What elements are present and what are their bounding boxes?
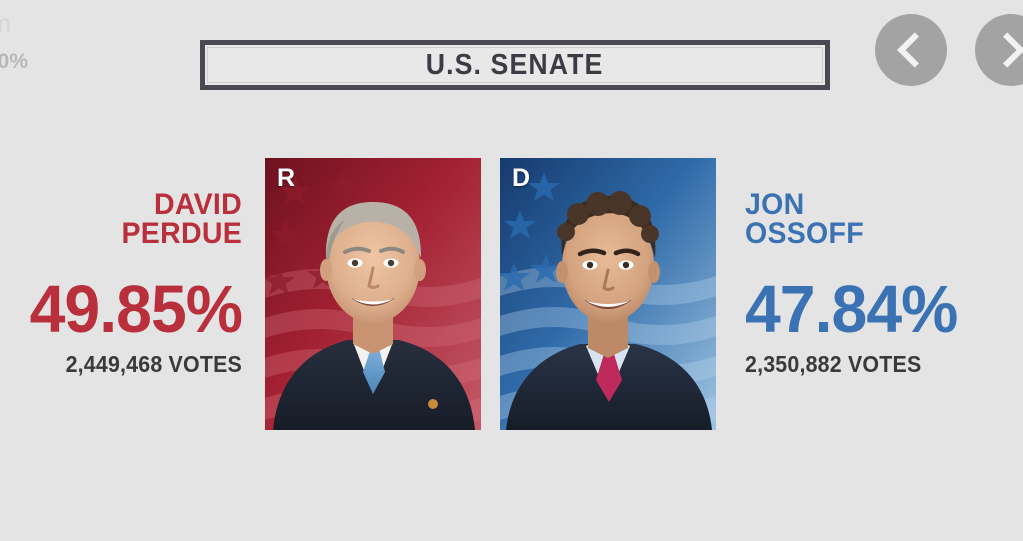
candidate-last-name-ossoff: OSSOFF <box>745 219 992 248</box>
previous-race-button[interactable] <box>875 14 947 86</box>
candidate-result-perdue: DAVID PERDUE 49.85% 2,449,468 VOTES <box>20 190 242 378</box>
chevron-left-icon <box>897 32 932 67</box>
candidate-first-name-ossoff: JON <box>745 190 992 219</box>
next-race-button[interactable] <box>975 14 1023 86</box>
party-badge-perdue: R <box>277 166 295 191</box>
race-title: U.S. SENATE <box>426 49 604 82</box>
overlay-ghost-percent: 00% <box>0 50 28 74</box>
candidate-photo-ossoff: D <box>500 158 716 430</box>
candidate-name-ossoff: JON OSSOFF <box>745 190 992 248</box>
ossoff-portrait-image <box>500 158 716 430</box>
race-title-banner: U.S. SENATE <box>200 40 830 90</box>
overlay-ghost-word: om <box>0 8 12 39</box>
candidate-last-name-perdue: PERDUE <box>31 219 242 248</box>
party-badge-ossoff: D <box>512 166 530 191</box>
candidate-votes-ossoff: 2,350,882 VOTES <box>745 351 987 378</box>
election-results-graphic: om 00% U.S. SENATE <box>0 0 1023 541</box>
chevron-right-icon <box>990 32 1023 67</box>
candidate-photo-perdue: R <box>265 158 481 430</box>
candidate-percent-ossoff: 47.84% <box>745 276 995 343</box>
candidate-first-name-perdue: DAVID <box>31 190 242 219</box>
candidate-percent-perdue: 49.85% <box>29 276 242 343</box>
candidate-result-ossoff: JON OSSOFF 47.84% 2,350,882 VOTES <box>745 190 1005 378</box>
perdue-portrait-image <box>265 158 481 430</box>
candidate-name-perdue: DAVID PERDUE <box>31 190 242 248</box>
candidate-votes-perdue: 2,449,468 VOTES <box>36 351 242 378</box>
